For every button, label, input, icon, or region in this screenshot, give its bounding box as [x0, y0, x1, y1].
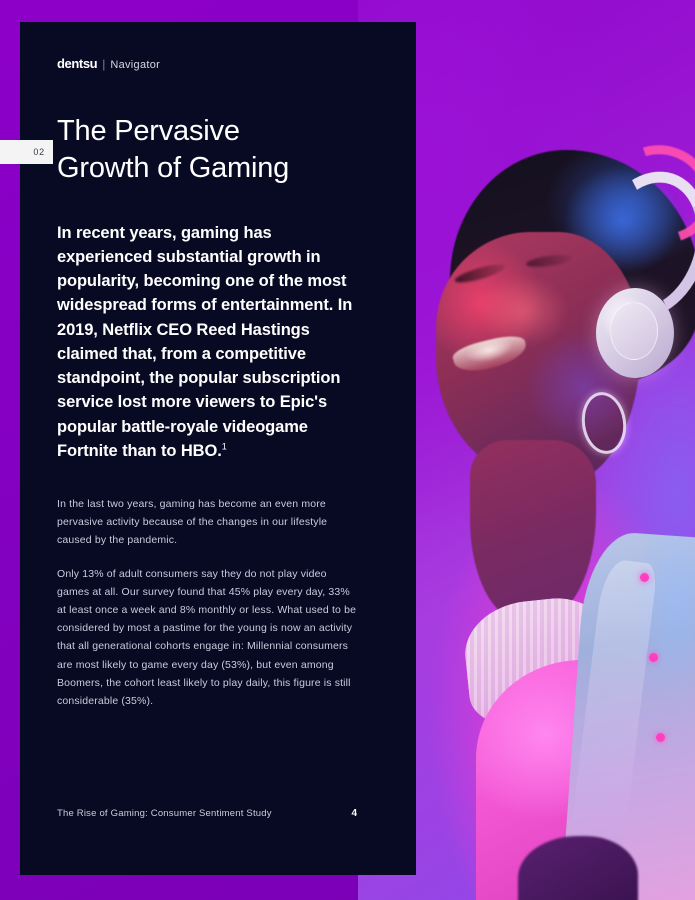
panel-content: dentsu | Navigator The Pervasive Growth … [57, 56, 357, 726]
page-title-line-2: Growth of Gaming [57, 150, 357, 187]
lead-paragraph: In recent years, gaming has experienced … [57, 221, 357, 464]
brand-lockup: dentsu | Navigator [57, 56, 357, 71]
page-title: The Pervasive Growth of Gaming [57, 113, 357, 187]
footer-page-number: 4 [351, 808, 357, 819]
page-title-line-1: The Pervasive [57, 113, 357, 150]
chapter-number-tab: 02 [0, 140, 53, 164]
report-page: 02 dentsu | Navigator The Pervasive Grow… [0, 0, 695, 900]
photo-jacket-stud [656, 733, 665, 742]
footer-report-title: The Rise of Gaming: Consumer Sentiment S… [57, 808, 272, 819]
photo-headphone-earcup-inner [610, 302, 658, 360]
brand-product: Navigator [110, 59, 160, 71]
brand-divider: | [102, 57, 105, 71]
lead-text: In recent years, gaming has experienced … [57, 224, 352, 460]
chapter-number: 02 [33, 147, 45, 157]
photo-jacket-stud [649, 653, 658, 662]
brand-name: dentsu [57, 56, 97, 71]
page-footer: The Rise of Gaming: Consumer Sentiment S… [57, 808, 357, 819]
body-paragraph-2: Only 13% of adult consumers say they do … [57, 565, 357, 709]
body-paragraph-1: In the last two years, gaming has become… [57, 495, 357, 549]
photo-jacket-stud [640, 573, 649, 582]
footnote-marker: 1 [222, 441, 227, 451]
photo-neck [470, 440, 596, 620]
